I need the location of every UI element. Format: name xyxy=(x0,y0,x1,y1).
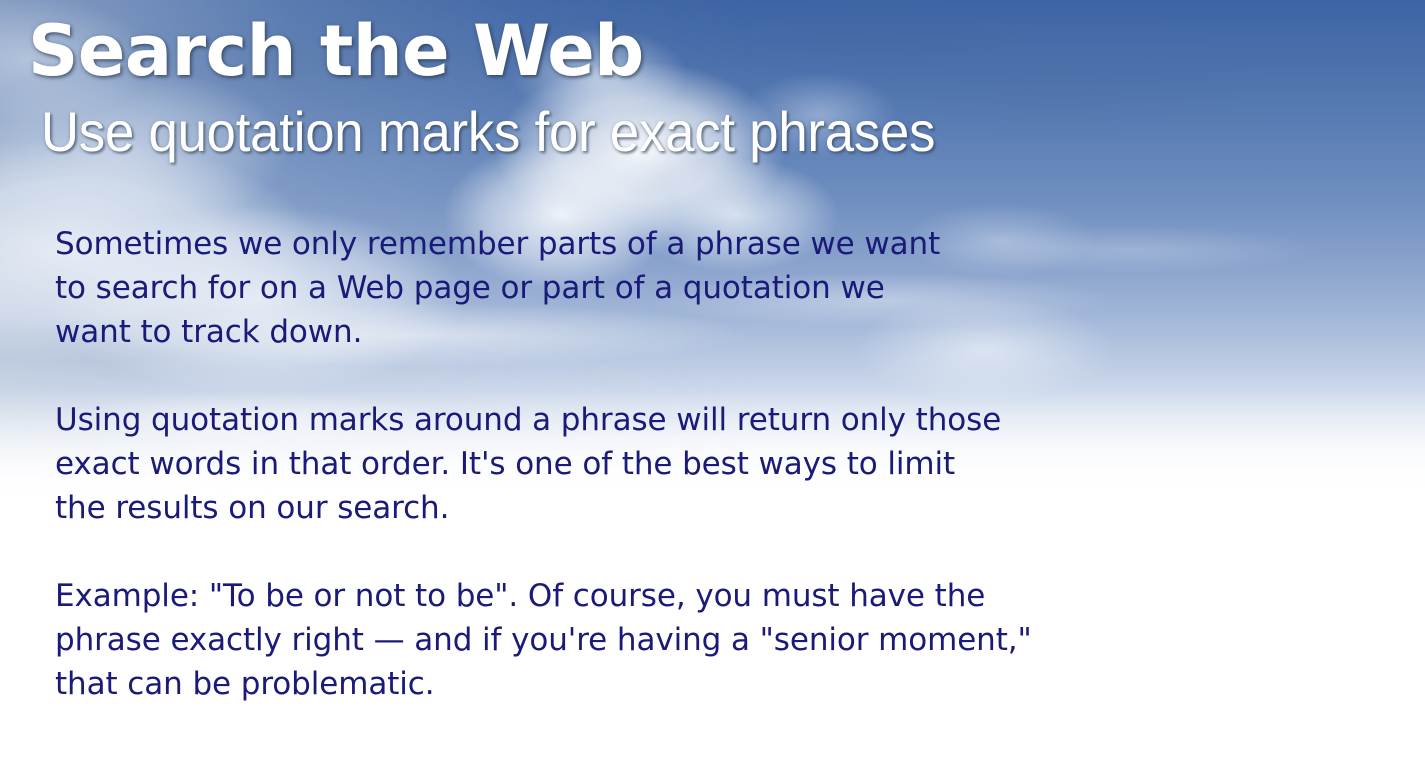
body-paragraph-1: Sometimes we only remember parts of a ph… xyxy=(55,222,1175,354)
body-paragraph-3: Example: "To be or not to be". Of course… xyxy=(55,574,1175,706)
body-paragraph-2: Using quotation marks around a phrase wi… xyxy=(55,398,1175,530)
slide-body: Sometimes we only remember parts of a ph… xyxy=(55,222,1175,706)
presentation-slide: Search the Web Use quotation marks for e… xyxy=(0,0,1425,767)
slide-content: Search the Web Use quotation marks for e… xyxy=(0,0,1425,767)
slide-subtitle: Use quotation marks for exact phrases xyxy=(41,103,935,162)
slide-title: Search the Web xyxy=(28,12,644,90)
